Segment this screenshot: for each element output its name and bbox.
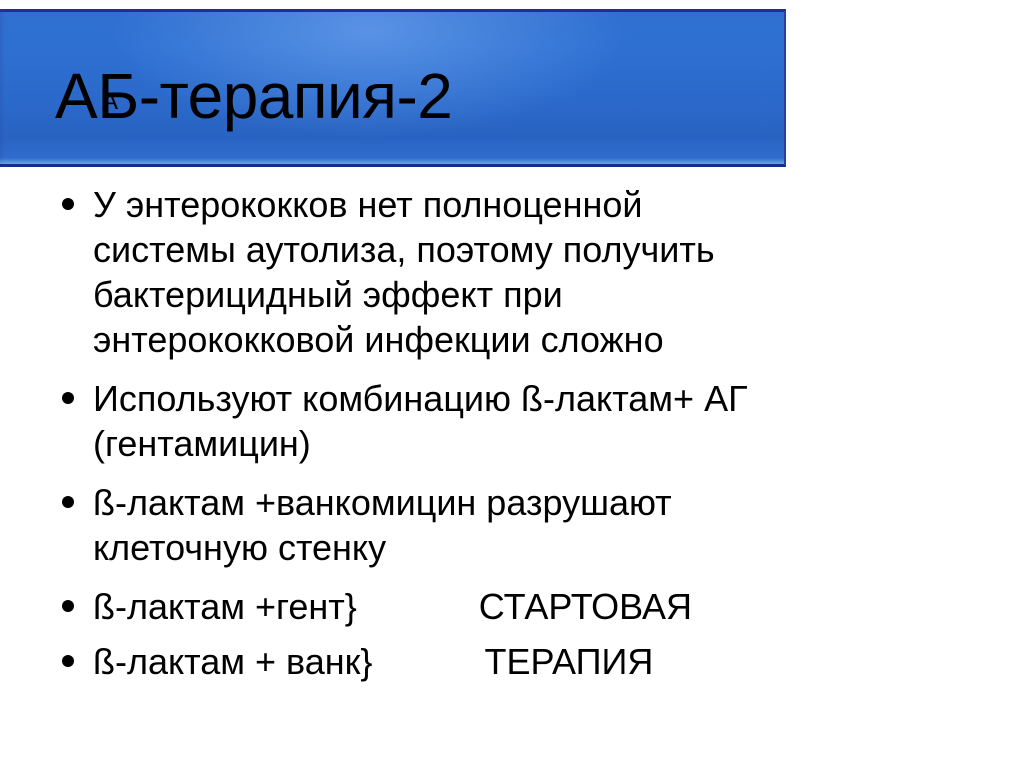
title-banner: АБ-терапия-2 A: [0, 9, 786, 167]
slide-canvas: АБ-терапия-2 A У энтерококков нет полноц…: [0, 0, 1024, 767]
round-bullet-icon: [62, 655, 74, 667]
bullet-trail-text: ТЕРАПИЯ: [484, 639, 653, 684]
list-item: ß-лактам +гент}СТАРТОВАЯ: [0, 584, 1024, 629]
bullet-lead-text: ß-лактам + ванк}: [93, 639, 372, 684]
bullet-line: (гентамицин): [93, 421, 1024, 466]
bullet-line: системы аутолиза, поэтому получить: [93, 227, 1024, 272]
bullet-line: бактерицидный эффект при: [93, 272, 1024, 317]
round-bullet-icon: [62, 600, 74, 612]
bullet-lead-text: ß-лактам +гент}: [93, 584, 357, 629]
banner-bottom-sheen: [0, 158, 784, 164]
bullet-line: ß-лактам +ванкомицин разрушают: [93, 480, 1024, 525]
bullet-list: У энтерококков нет полноценной системы а…: [0, 182, 1024, 684]
banner-left-edge-shading: [0, 12, 5, 164]
round-bullet-icon: [62, 392, 74, 404]
bullet-line: клеточную стенку: [93, 525, 1024, 570]
round-bullet-icon: [62, 198, 74, 210]
bullet-line: ß-лактам + ванк}ТЕРАПИЯ: [93, 639, 1024, 684]
list-item: ß-лактам +ванкомицин разрушают клеточную…: [0, 480, 1024, 570]
bullet-line: энтерококковой инфекции сложно: [93, 317, 1024, 362]
list-item: У энтерококков нет полноценной системы а…: [0, 182, 1024, 362]
list-item: ß-лактам + ванк}ТЕРАПИЯ: [0, 639, 1024, 684]
bullet-trail-text: СТАРТОВАЯ: [479, 584, 692, 629]
list-item: Используют комбинацию ß-лактам+ АГ (гент…: [0, 376, 1024, 466]
bullet-line: У энтерококков нет полноценной: [93, 182, 1024, 227]
round-bullet-icon: [62, 496, 74, 508]
bullet-line: Используют комбинацию ß-лактам+ АГ: [93, 376, 1024, 421]
bullet-line: ß-лактам +гент}СТАРТОВАЯ: [93, 584, 1024, 629]
title-stray-glyph-artifact: A: [102, 90, 118, 114]
